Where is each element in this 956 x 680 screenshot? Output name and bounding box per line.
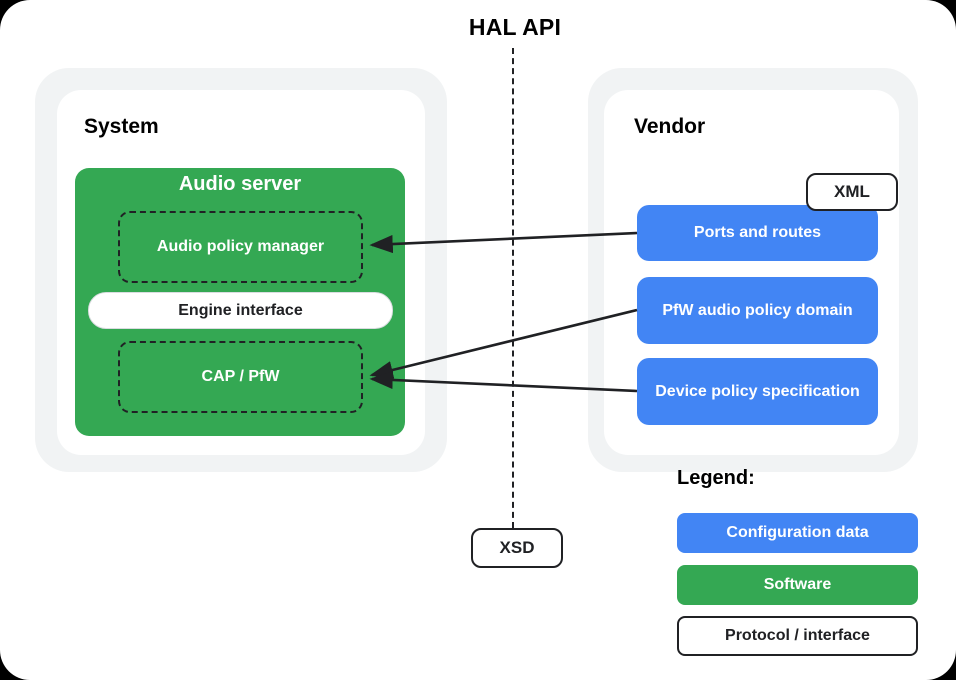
hal-api-divider-line: [512, 48, 514, 528]
legend-item-software: Software: [677, 565, 918, 605]
pfw-audio-policy-domain-block: PfW audio policy domain: [637, 277, 878, 344]
hal-api-title: HAL API: [390, 14, 640, 41]
vendor-panel-title: Vendor: [634, 115, 705, 139]
xsd-badge: XSD: [471, 528, 563, 568]
diagram-canvas: HAL API System Audio server Audio policy…: [0, 0, 956, 680]
legend-title: Legend:: [677, 467, 755, 490]
ports-and-routes-block: Ports and routes: [637, 205, 878, 261]
legend-item-configuration-data: Configuration data: [677, 513, 918, 553]
engine-interface-block: Engine interface: [88, 292, 393, 329]
cap-pfw-block: CAP / PfW: [118, 341, 363, 413]
audio-server-title: Audio server: [75, 173, 405, 196]
system-panel-title: System: [84, 115, 159, 139]
xml-badge: XML: [806, 173, 898, 211]
device-policy-specification-block: Device policy specification: [637, 358, 878, 425]
audio-policy-manager-block: Audio policy manager: [118, 211, 363, 283]
legend-item-protocol-interface: Protocol / interface: [677, 616, 918, 656]
